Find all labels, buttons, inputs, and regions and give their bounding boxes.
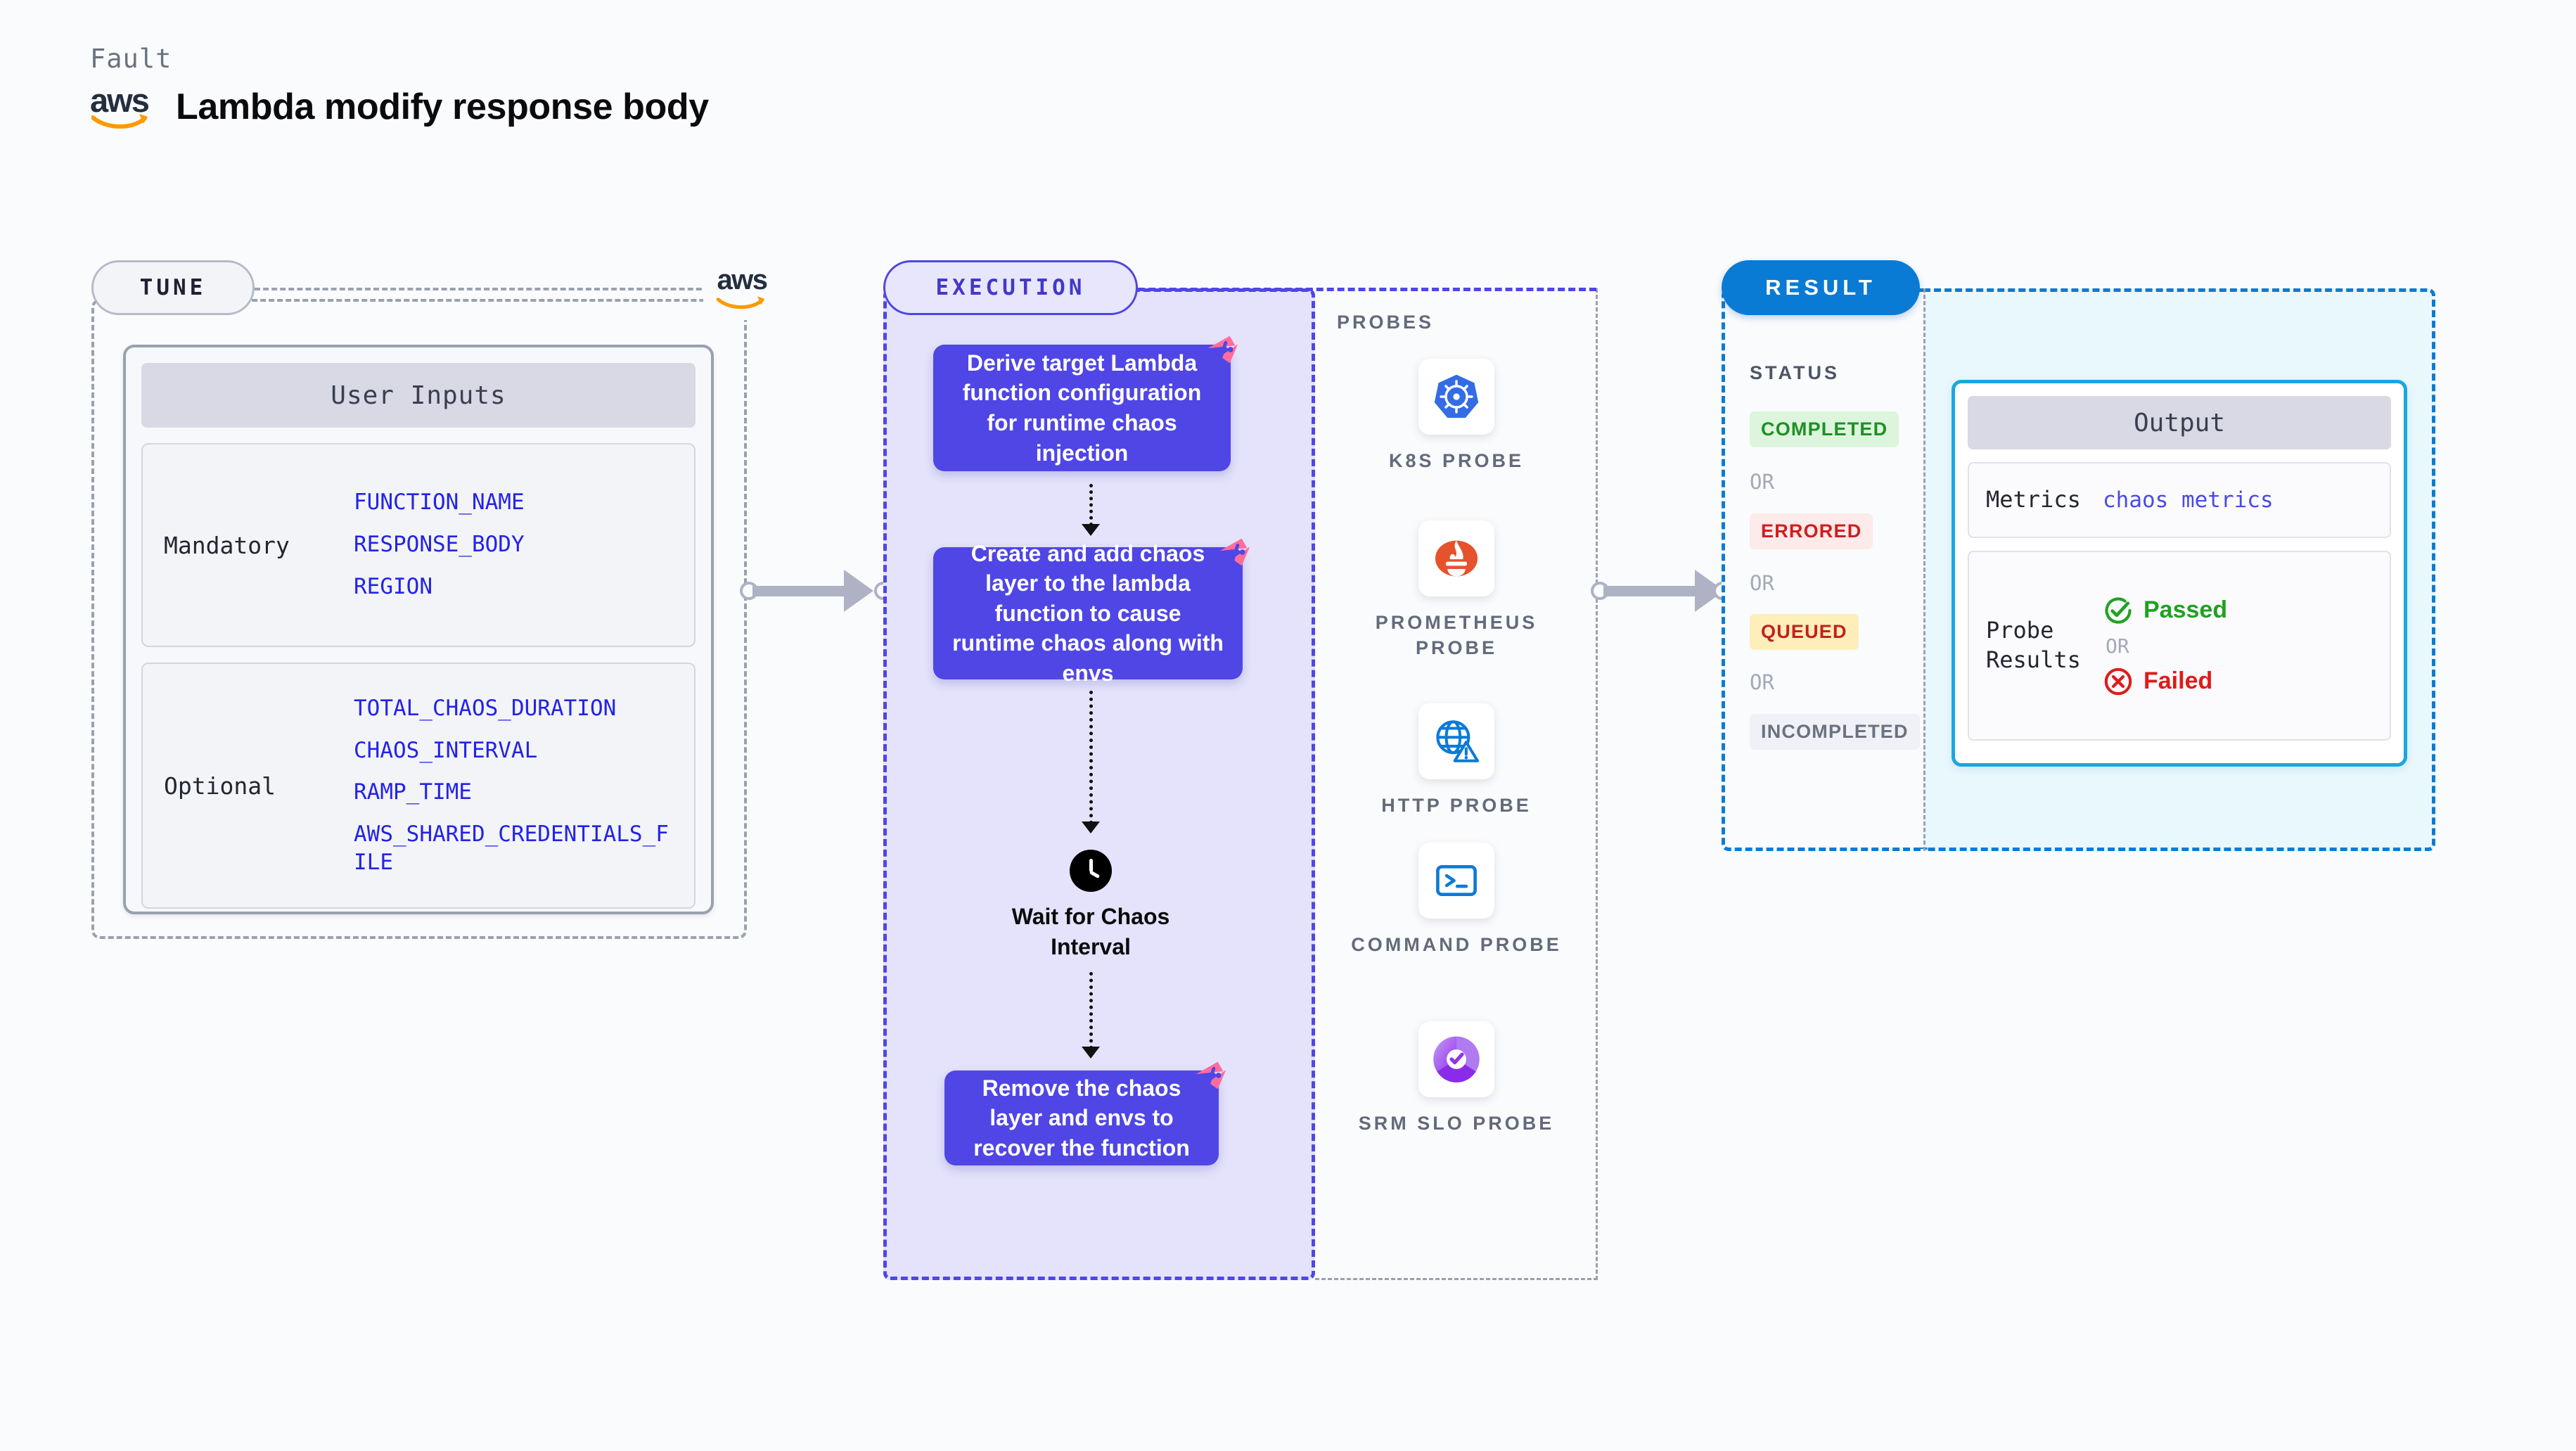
probe-prometheus-label: PROMETHEUS PROBE [1351, 611, 1562, 661]
status-or-2: OR [1750, 571, 1774, 595]
output-metrics-value: chaos metrics [2103, 487, 2274, 513]
execution-step-1: Derive target Lambda function configurat… [933, 345, 1231, 471]
mandatory-label: Mandatory [143, 532, 354, 559]
optional-params-group: Optional TOTAL_CHAOS_DURATION CHAOS_INTE… [141, 663, 696, 909]
param-aws-shared-credentials-file: AWS_SHARED_CREDENTIALS_FILE [354, 821, 680, 876]
harness-icon [1215, 532, 1255, 573]
probe-failed-label: Failed [2144, 667, 2212, 695]
x-circle-icon [2103, 666, 2134, 697]
http-globe-warning-icon [1418, 703, 1494, 779]
prometheus-icon [1418, 520, 1494, 596]
probe-k8s-label: K8S PROBE [1351, 449, 1562, 474]
aws-smile-icon [91, 112, 150, 130]
status-badge-incompleted: INCOMPLETED [1750, 714, 1920, 750]
mandatory-params-group: Mandatory FUNCTION_NAME RESPONSE_BODY RE… [141, 443, 696, 647]
execution-chip: EXECUTION [883, 260, 1138, 315]
param-response-body: RESPONSE_BODY [354, 531, 680, 559]
probe-passed-label: Passed [2144, 596, 2227, 624]
output-metrics-key: Metrics [1969, 485, 2103, 515]
execution-connector-3 [1089, 972, 1093, 1049]
probe-verdict-failed: Failed [2103, 666, 2390, 697]
param-function-name: FUNCTION_NAME [354, 489, 680, 517]
probe-verdict-passed: Passed [2103, 595, 2390, 626]
param-region: REGION [354, 573, 680, 601]
output-probe-results-row: Probe Results Passed OR Failed [1968, 551, 2391, 741]
status-badge-queued: QUEUED [1750, 614, 1859, 650]
harness-icon [1203, 329, 1243, 370]
aws-logo: aws [90, 84, 158, 130]
execution-arrow-2 [1082, 822, 1100, 833]
status-label: STATUS [1750, 362, 1840, 384]
execution-step-3: Remove the chaos layer and envs to recov… [944, 1070, 1219, 1165]
probe-http-label: HTTP PROBE [1351, 793, 1562, 819]
tune-panel-top-dashline [255, 288, 719, 290]
aws-smile-icon [715, 295, 769, 310]
clock-icon [1070, 850, 1112, 892]
execution-step-2-text: Create and add chaos layer to the lambda… [951, 539, 1224, 689]
execution-step-3-text: Remove the chaos layer and envs to recov… [963, 1073, 1200, 1163]
execution-arrow-3 [1082, 1047, 1100, 1059]
probe-verdict-or: OR [2106, 634, 2390, 658]
output-probe-results-key: Probe Results [1969, 616, 2103, 675]
execution-step-2: Create and add chaos layer to the lambda… [933, 547, 1243, 679]
header: Fault aws Lambda modify response body [90, 44, 709, 130]
status-badge-completed: COMPLETED [1750, 411, 1899, 447]
execution-panel-top-dashline [1138, 288, 1596, 291]
harness-icon [1191, 1055, 1231, 1096]
probe-http[interactable]: HTTP PROBE [1351, 703, 1562, 819]
terminal-icon [1418, 843, 1494, 919]
probes-title: PROBES [1337, 312, 1434, 333]
status-badge-errored: ERRORED [1750, 513, 1873, 549]
diagram-canvas: Fault aws Lambda modify response body TU… [0, 0, 2576, 1451]
param-chaos-interval: CHAOS_INTERVAL [354, 737, 680, 765]
result-panel-divider [1923, 288, 1925, 851]
probe-command[interactable]: COMMAND PROBE [1351, 843, 1562, 958]
tune-chip: TUNE [91, 260, 255, 315]
result-chip: RESULT [1722, 260, 1920, 315]
fault-kind-label: Fault [90, 44, 709, 74]
output-card: Output Metrics chaos metrics Probe Resul… [1952, 380, 2407, 767]
user-inputs-title: User Inputs [141, 363, 696, 428]
param-ramp-time: RAMP_TIME [354, 779, 680, 807]
execution-arrow-1 [1082, 524, 1100, 536]
execution-connector-2 [1089, 691, 1093, 824]
check-circle-icon [2103, 595, 2134, 626]
probe-srm-slo-label: SRM SLO PROBE [1351, 1111, 1562, 1137]
output-title: Output [1968, 396, 2391, 449]
probe-srm-slo[interactable]: SRM SLO PROBE [1351, 1021, 1562, 1137]
connector-arrow-tune-exec [844, 570, 873, 612]
execution-connector-1 [1089, 484, 1093, 526]
probe-command-label: COMMAND PROBE [1351, 933, 1562, 958]
page-title: Lambda modify response body [176, 86, 709, 128]
tune-provider-aws-logo: aws [703, 255, 781, 320]
connector-line-tune-exec [752, 586, 858, 596]
user-inputs-card: User Inputs Mandatory FUNCTION_NAME RESP… [123, 345, 714, 914]
probe-k8s[interactable]: K8S PROBE [1351, 359, 1562, 474]
wait-for-chaos-interval-label: Wait for Chaos Interval [978, 902, 1203, 961]
status-or-3: OR [1750, 670, 1774, 694]
optional-label: Optional [143, 772, 354, 800]
param-total-chaos-duration: TOTAL_CHAOS_DURATION [354, 695, 680, 723]
probe-prometheus[interactable]: PROMETHEUS PROBE [1351, 520, 1562, 661]
connector-line-exec-result [1603, 586, 1709, 596]
kubernetes-icon [1418, 359, 1494, 435]
output-metrics-row: Metrics chaos metrics [1968, 462, 2391, 538]
srm-slo-icon [1418, 1021, 1494, 1097]
status-or-1: OR [1750, 470, 1774, 494]
execution-step-1-text: Derive target Lambda function configurat… [951, 348, 1212, 468]
